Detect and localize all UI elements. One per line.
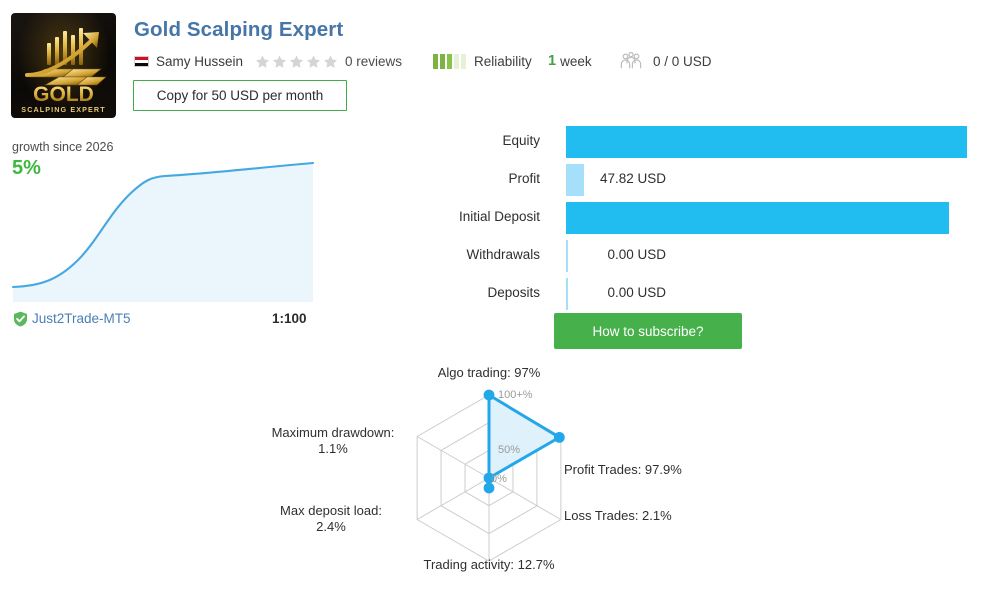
logo-artwork-icon: GOLD SCALPING EXPERT: [11, 13, 116, 118]
radar-axis-label-algo-trading: Algo trading: 97%: [389, 365, 589, 381]
profile-header: GOLD SCALPING EXPERT Gold Scalping Exper…: [0, 0, 984, 125]
growth-chart-panel[interactable]: growth since 2026 5%: [0, 132, 330, 302]
stat-bar-track: [566, 126, 984, 158]
people-icon: [617, 52, 645, 70]
stat-bar: [566, 240, 568, 272]
stat-bar-track: [566, 202, 984, 234]
reliability-bars-icon: [433, 54, 466, 69]
stat-bar: [566, 278, 568, 310]
leverage-value: 1:100: [272, 311, 307, 326]
table-row: Initial Deposit 1 000.00 USD: [340, 200, 984, 238]
account-age-value: 1: [548, 53, 556, 69]
ring-label-0: 0%: [491, 473, 507, 485]
growth-sparkline: [0, 132, 330, 302]
star-icon: [323, 54, 338, 69]
rating-stars[interactable]: [255, 54, 338, 69]
stat-bar-track: [566, 278, 984, 310]
how-to-subscribe-button[interactable]: How to subscribe?: [554, 313, 742, 349]
author-name: Samy Hussein: [156, 54, 243, 69]
star-icon: [306, 54, 321, 69]
table-row: Profit 47.82 USD: [340, 162, 984, 200]
stat-bar: [566, 202, 949, 234]
radar-axis-label-trading-activity: Trading activity: 12.7%: [369, 557, 609, 573]
reliability-block: Reliability: [433, 50, 532, 72]
logo-subtitle-text: SCALPING EXPERT: [21, 105, 105, 114]
radar-axis-label-maximum-drawdown-line1: Maximum drawdown:: [272, 425, 395, 440]
logo-title-text: GOLD: [33, 83, 94, 106]
stat-label: Deposits: [340, 285, 540, 300]
ring-label-50: 50%: [498, 444, 520, 456]
page-title[interactable]: Gold Scalping Expert: [134, 18, 343, 42]
account-age-unit: week: [560, 54, 592, 69]
stat-bar: [566, 126, 967, 158]
radar-axis-label-maximum-drawdown-line2: 1.1%: [318, 441, 348, 456]
growth-value: 5%: [12, 157, 41, 180]
stat-bar: [566, 164, 584, 196]
stat-label: Equity: [340, 133, 540, 148]
radar-axis-label-loss-trades: Loss Trades: 2.1%: [564, 508, 744, 524]
copy-subscription-button[interactable]: Copy for 50 USD per month: [133, 80, 347, 111]
reviews-count: 0 reviews: [345, 54, 402, 69]
star-icon: [289, 54, 304, 69]
table-row: Equity 1 047.82 USD: [340, 124, 984, 162]
rating-block: 0 reviews: [255, 50, 402, 72]
growth-label: growth since 2026: [12, 140, 113, 154]
reliability-label: Reliability: [474, 54, 532, 69]
radar-point-profit-trades: [554, 432, 565, 443]
radar-axis-label-max-deposit-load-line1: Max deposit load:: [280, 503, 382, 518]
stat-label: Initial Deposit: [340, 209, 540, 224]
radar-axis-label-profit-trades: Profit Trades: 97.9%: [564, 462, 744, 478]
product-logo[interactable]: GOLD SCALPING EXPERT: [11, 13, 116, 118]
stat-bar-track: [566, 164, 984, 196]
stat-label: Withdrawals: [340, 247, 540, 262]
broker-name[interactable]: Just2Trade-MT5: [32, 311, 131, 326]
subscribers-text: 0 / 0 USD: [653, 54, 712, 69]
radar-axis-label-max-deposit-load-line2: 2.4%: [316, 519, 346, 534]
account-age-block: 1 week: [548, 50, 592, 72]
star-icon: [255, 54, 270, 69]
subscribers-block: 0 / 0 USD: [617, 50, 712, 72]
radar-data-polygon: [489, 395, 559, 478]
stat-label: Profit: [340, 171, 540, 186]
author-block[interactable]: Samy Hussein: [134, 50, 243, 72]
table-row: Deposits 0.00 USD: [340, 276, 984, 314]
table-row: Withdrawals 0.00 USD: [340, 238, 984, 276]
star-icon: [272, 54, 287, 69]
broker-row: Just2Trade-MT5 1:100: [0, 308, 330, 332]
stat-bar-track: [566, 240, 984, 272]
egypt-flag-icon: [134, 56, 149, 67]
ring-label-100: 100+%: [498, 389, 533, 401]
performance-radar-chart: 100+% 50% 0% Algo trading: 97% Profit Tr…: [248, 366, 748, 596]
radar-point-algo-trading: [484, 390, 495, 401]
radar-axis-label-max-deposit-load: Max deposit load: 2.4%: [246, 503, 416, 535]
account-stats-table: Equity 1 047.82 USD Profit 47.82 USD Ini…: [340, 124, 984, 314]
verified-shield-icon: [13, 311, 28, 327]
radar-axis-label-maximum-drawdown: Maximum drawdown: 1.1%: [238, 425, 428, 457]
